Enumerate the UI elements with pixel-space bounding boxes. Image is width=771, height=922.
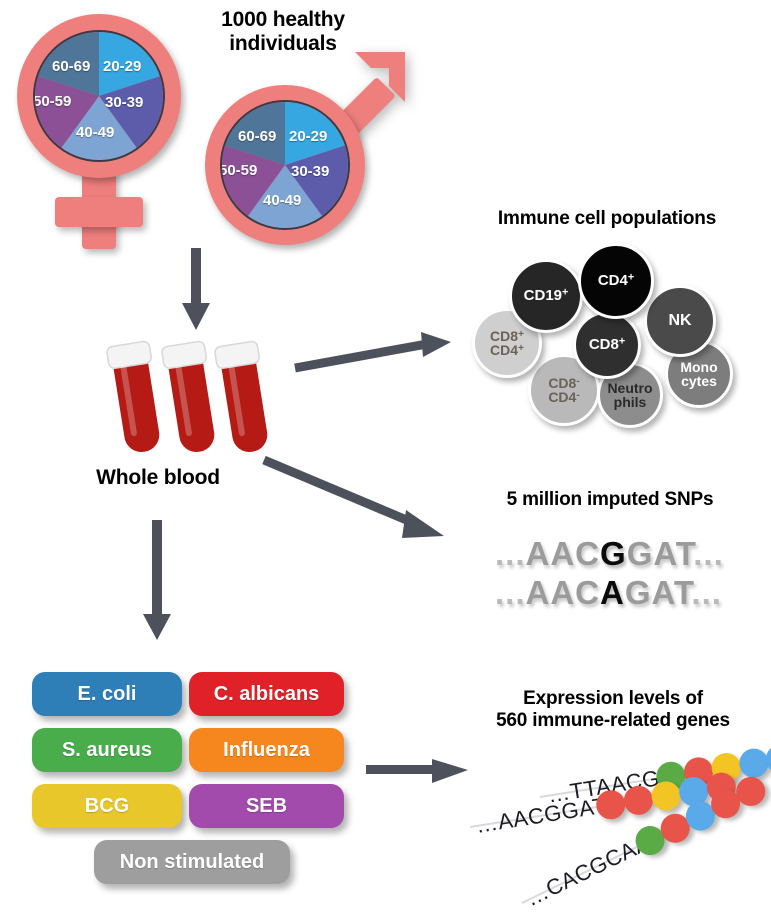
strand-1-backbone [540, 776, 664, 798]
stimulus-pill-e-coli[interactable]: E. coli [32, 672, 182, 716]
strand-1-bead-3 [710, 751, 743, 784]
snp-suffix-2: ... [691, 574, 722, 611]
snps-title: 5 million imputed SNPs [460, 489, 760, 511]
strand-1-bead-4 [737, 747, 770, 780]
cell-bubble-cd8pos-cd4pos: CD8+CD4+ [472, 308, 542, 378]
whole-blood-tubes [98, 335, 278, 460]
cell-bubble-neutrophils: Neutrophils [597, 362, 663, 428]
stimulus-label-bcg: BCG [85, 795, 129, 818]
arrow-blood-to-stimuli [140, 520, 178, 642]
arrow-cohort-to-blood [178, 248, 214, 332]
expression-strand-1: …TTAACGG [537, 743, 771, 813]
snp-left-2: AAC [526, 574, 601, 611]
cell-label-nk: NK [668, 313, 691, 329]
strand-1-sequence: …TTAACGG [546, 762, 679, 808]
male-gender-symbol: 20-29 30-39 40-49 50-59 60-69 [205, 48, 410, 248]
immune-cells-title: Immune cell populations [452, 208, 762, 230]
strand-2-bead-3 [649, 779, 682, 812]
expression-strand-3: …CACGCAA [515, 778, 755, 918]
pie-label-30-39: 30-39 [105, 94, 143, 111]
female-gender-symbol: 20-29 30-39 40-49 50-59 60-69 [8, 14, 198, 244]
expression-title-line1: Expression levels of [455, 688, 771, 710]
stimulus-pill-s-aureus[interactable]: S. aureus [32, 728, 182, 772]
strand-3-bead-4 [706, 784, 745, 823]
strand-3-bead-3 [681, 797, 720, 836]
male-age-pie-chart: 20-29 30-39 40-49 50-59 60-69 [220, 100, 350, 230]
pie-label-60-69: 60-69 [238, 128, 276, 145]
stimulus-pill-bcg[interactable]: BCG [32, 784, 182, 828]
pie-label-40-49: 40-49 [263, 192, 301, 209]
strand-3-backbone [522, 841, 649, 904]
arrow-stimuli-to-expression [366, 757, 471, 789]
snp-allele-row-1: ...AACGGAT... [495, 535, 724, 573]
strand-1-bead-5 [764, 742, 771, 775]
cell-bubble-cd8: CD8+ [573, 311, 641, 379]
snp-left-1: AAC [526, 535, 601, 572]
stimulus-label-s-aureus: S. aureus [62, 739, 152, 762]
stimulus-pill-non-stimulated[interactable]: Non stimulated [94, 840, 290, 884]
strand-2-bead-4 [677, 775, 710, 808]
strand-2-sequence: …AACGGAT [474, 793, 608, 839]
pie-label-20-29: 20-29 [289, 128, 327, 145]
pie-label-30-39: 30-39 [291, 163, 329, 180]
cell-bubble-nk: NK [644, 285, 716, 357]
strand-2-backbone [470, 803, 614, 828]
snp-variant-2: A [600, 574, 625, 611]
cell-bubble-monocytes: Monocytes [665, 340, 733, 408]
snp-right-2: GAT [625, 574, 692, 611]
cohort-title-line1: 1000 healthy [178, 8, 388, 32]
cell-label-cd4: CD4+ [598, 273, 634, 288]
whole-blood-label: Whole blood [78, 466, 238, 490]
pie-label-20-29: 20-29 [103, 58, 141, 75]
pie-label-50-59: 50-59 [33, 93, 71, 110]
stimulus-pill-seb[interactable]: SEB [189, 784, 344, 828]
stimuli-panel: E. coli C. albicans S. aureus Influenza … [32, 672, 352, 897]
stimulus-label-c-albicans: C. albicans [214, 683, 320, 706]
stimulus-label-non-stimulated: Non stimulated [120, 851, 264, 874]
study-design-figure: 1000 healthy individuals 20-29 30-39 40-… [0, 0, 771, 922]
cell-label-neutrophils: Neutrophils [607, 381, 652, 410]
arrow-blood-to-immune-cells [295, 330, 455, 376]
expression-strand-2: …AACGGAT [467, 771, 719, 844]
snp-right-1: GAT [627, 535, 694, 572]
strand-3-bead-2 [656, 809, 695, 848]
snp-suffix-1: ... [693, 535, 724, 572]
snp-prefix-1: ... [495, 535, 526, 572]
pie-label-50-59: 50-59 [220, 162, 257, 179]
snp-variant-1: G [600, 535, 627, 572]
arrow-blood-to-snps [258, 448, 458, 548]
cell-label-cd19: CD19+ [524, 288, 569, 303]
cell-label-cd8pos-cd4pos: CD8+CD4+ [490, 329, 524, 358]
strand-2-bead-2 [622, 784, 655, 817]
stimulus-label-seb: SEB [246, 795, 287, 818]
strand-3-bead-1 [631, 821, 670, 860]
snp-prefix-2: ... [495, 574, 526, 611]
cell-label-cd8neg-cd4neg: CD8-CD4- [548, 376, 579, 405]
strand-1-bead-2 [682, 755, 715, 788]
female-symbol-crossbar [55, 197, 143, 227]
cell-bubble-cd4: CD4+ [578, 243, 654, 319]
expression-title: Expression levels of 560 immune-related … [455, 688, 771, 732]
female-age-pie-chart: 20-29 30-39 40-49 50-59 60-69 [33, 30, 165, 162]
stimulus-label-e-coli: E. coli [78, 683, 137, 706]
cell-label-cd8: CD8+ [589, 337, 625, 352]
pie-label-40-49: 40-49 [76, 124, 114, 141]
strand-2-bead-5 [705, 771, 738, 804]
strand-1-bead-1 [654, 760, 687, 793]
strand-3-sequence: …CACGCAA [522, 830, 655, 912]
cell-label-monocytes: Monocytes [680, 360, 717, 389]
stimulus-label-influenza: Influenza [223, 739, 310, 762]
snp-allele-row-2: ...AACAGAT... [495, 574, 722, 612]
cell-bubble-cd8neg-cd4neg: CD8-CD4- [528, 354, 600, 426]
pie-label-60-69: 60-69 [52, 58, 90, 75]
expression-title-line2: 560 immune-related genes [455, 710, 771, 732]
strand-3-bead-5 [731, 772, 770, 811]
strand-2-bead-1 [594, 788, 627, 821]
stimulus-pill-influenza[interactable]: Influenza [189, 728, 344, 772]
cell-bubble-cd19: CD19+ [509, 259, 583, 333]
stimulus-pill-c-albicans[interactable]: C. albicans [189, 672, 344, 716]
